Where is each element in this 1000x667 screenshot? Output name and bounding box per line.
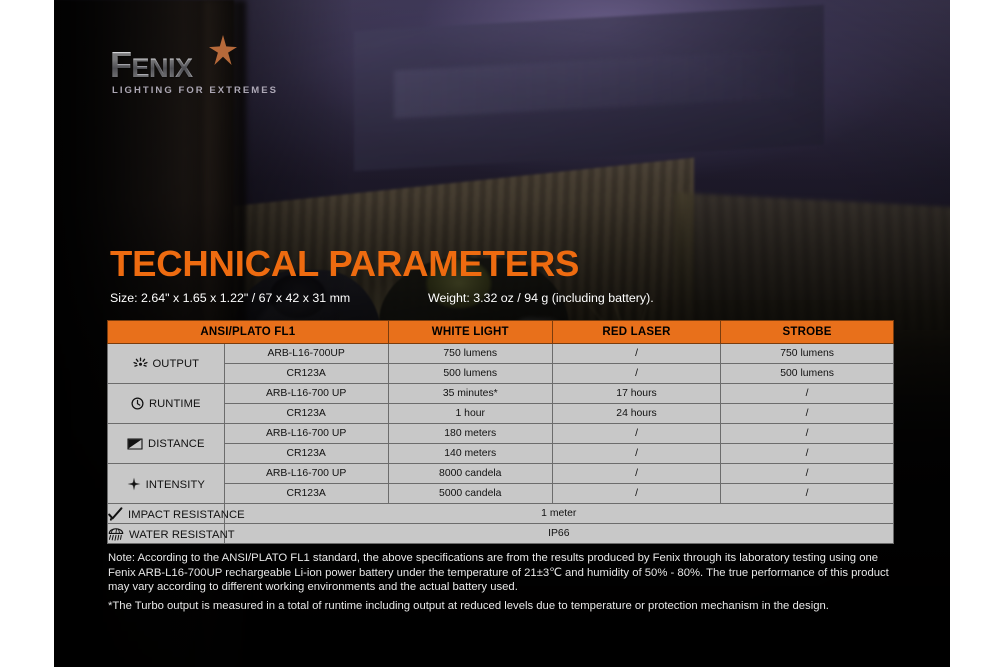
table-row: CR123A5000 candela// bbox=[108, 484, 894, 504]
star-icon bbox=[206, 34, 240, 68]
table-row: CR123A140 meters// bbox=[108, 444, 894, 464]
crosshair-icon bbox=[127, 477, 141, 491]
cell-strobe: / bbox=[721, 424, 894, 444]
cell-white-light: 35 minutes* bbox=[388, 384, 552, 404]
sunburst-icon bbox=[133, 357, 148, 370]
cell-battery: CR123A bbox=[224, 364, 388, 384]
clock-icon bbox=[131, 397, 144, 410]
left-margin bbox=[0, 0, 54, 667]
cell-value-full: IP66 bbox=[224, 524, 893, 544]
cell-red-laser: / bbox=[552, 424, 720, 444]
fenix-logo-enix: ENIX bbox=[132, 53, 193, 83]
note-standard: Note: According to the ANSI/PLATO FL1 st… bbox=[108, 551, 898, 595]
dimensions-line: Size: 2.64" x 1.65 x 1.22" / 67 x 42 x 3… bbox=[110, 291, 900, 309]
fenix-logo-wordmark: FENIX bbox=[110, 44, 193, 86]
cell-value-full: 1 meter bbox=[224, 504, 893, 524]
cell-red-laser: 24 hours bbox=[552, 404, 720, 424]
cell-battery: ARB-L16-700UP bbox=[224, 344, 388, 364]
cell-strobe: 750 lumens bbox=[721, 344, 894, 364]
page-root: FENIX LIGHTING FOR EXTREMES TECHNICAL PA… bbox=[0, 0, 1000, 667]
fenix-logo-f: F bbox=[110, 44, 132, 85]
cell-white-light: 5000 candela bbox=[388, 484, 552, 504]
fenix-logo-tagline: LIGHTING FOR EXTREMES bbox=[112, 85, 278, 96]
row-label-water-resistant: WATER RESISTANT bbox=[108, 524, 225, 544]
technical-parameters-table: ANSI/PLATO FL1 WHITE LIGHT RED LASER STR… bbox=[107, 320, 894, 544]
row-label-text: WATER RESISTANT bbox=[129, 529, 235, 541]
fenix-logo: FENIX LIGHTING FOR EXTREMES bbox=[110, 38, 360, 96]
right-margin bbox=[950, 0, 1000, 667]
table-row: WATER RESISTANTIP66 bbox=[108, 524, 894, 544]
row-label-text: INTENSITY bbox=[146, 479, 205, 491]
table-header: ANSI/PLATO FL1 WHITE LIGHT RED LASER STR… bbox=[108, 321, 894, 344]
table-row: CR123A1 hour24 hours/ bbox=[108, 404, 894, 424]
cell-battery: CR123A bbox=[224, 444, 388, 464]
cell-white-light: 1 hour bbox=[388, 404, 552, 424]
cell-battery: CR123A bbox=[224, 484, 388, 504]
cell-white-light: 180 meters bbox=[388, 424, 552, 444]
header-red-laser: RED LASER bbox=[552, 321, 720, 344]
table-header-row: ANSI/PLATO FL1 WHITE LIGHT RED LASER STR… bbox=[108, 321, 894, 344]
cell-white-light: 500 lumens bbox=[388, 364, 552, 384]
cell-strobe: / bbox=[721, 404, 894, 424]
cell-battery: ARB-L16-700 UP bbox=[224, 384, 388, 404]
cell-strobe: 500 lumens bbox=[721, 364, 894, 384]
row-label-text: DISTANCE bbox=[148, 438, 205, 450]
cell-red-laser: / bbox=[552, 464, 720, 484]
page-title: TECHNICAL PARAMETERS bbox=[110, 243, 579, 285]
cell-white-light: 750 lumens bbox=[388, 344, 552, 364]
cell-battery: ARB-L16-700 UP bbox=[224, 464, 388, 484]
cell-white-light: 140 meters bbox=[388, 444, 552, 464]
size-text: Size: 2.64" x 1.65 x 1.22" / 67 x 42 x 3… bbox=[110, 291, 350, 305]
row-label-text: RUNTIME bbox=[149, 398, 201, 410]
header-standard: ANSI/PLATO FL1 bbox=[108, 321, 389, 344]
header-white-light: WHITE LIGHT bbox=[388, 321, 552, 344]
cell-red-laser: / bbox=[552, 344, 720, 364]
cell-strobe: / bbox=[721, 484, 894, 504]
table-row: INTENSITYARB-L16-700 UP8000 candela// bbox=[108, 464, 894, 484]
row-label-output: OUTPUT bbox=[108, 344, 225, 384]
cell-red-laser: / bbox=[552, 444, 720, 464]
cell-battery: ARB-L16-700 UP bbox=[224, 424, 388, 444]
weight-text: Weight: 3.32 oz / 94 g (including batter… bbox=[428, 291, 654, 305]
cell-strobe: / bbox=[721, 464, 894, 484]
row-label-runtime: RUNTIME bbox=[108, 384, 225, 424]
note-footnote: *The Turbo output is measured in a total… bbox=[108, 599, 898, 614]
cell-strobe: / bbox=[721, 384, 894, 404]
table-row: OUTPUTARB-L16-700UP750 lumens/750 lumens bbox=[108, 344, 894, 364]
table-body: OUTPUTARB-L16-700UP750 lumens/750 lumens… bbox=[108, 344, 894, 544]
header-strobe: STROBE bbox=[721, 321, 894, 344]
row-label-intensity: INTENSITY bbox=[108, 464, 225, 504]
table-row: DISTANCEARB-L16-700 UP180 meters// bbox=[108, 424, 894, 444]
row-label-text: OUTPUT bbox=[153, 358, 200, 370]
umbrella-rain-icon bbox=[108, 527, 124, 541]
beam-distance-icon bbox=[127, 438, 143, 450]
cell-red-laser: 17 hours bbox=[552, 384, 720, 404]
table-row: CR123A500 lumens/500 lumens bbox=[108, 364, 894, 384]
table-row: IMPACT RESISTANCE1 meter bbox=[108, 504, 894, 524]
cell-battery: CR123A bbox=[224, 404, 388, 424]
table-row: RUNTIMEARB-L16-700 UP35 minutes*17 hours… bbox=[108, 384, 894, 404]
cell-strobe: / bbox=[721, 444, 894, 464]
row-label-text: IMPACT RESISTANCE bbox=[128, 509, 245, 521]
row-label-distance: DISTANCE bbox=[108, 424, 225, 464]
cell-red-laser: / bbox=[552, 364, 720, 384]
row-label-impact-resistance: IMPACT RESISTANCE bbox=[108, 504, 225, 524]
impact-check-icon bbox=[108, 507, 123, 521]
cell-white-light: 8000 candela bbox=[388, 464, 552, 484]
notes-block: Note: According to the ANSI/PLATO FL1 st… bbox=[108, 551, 898, 613]
cell-red-laser: / bbox=[552, 484, 720, 504]
